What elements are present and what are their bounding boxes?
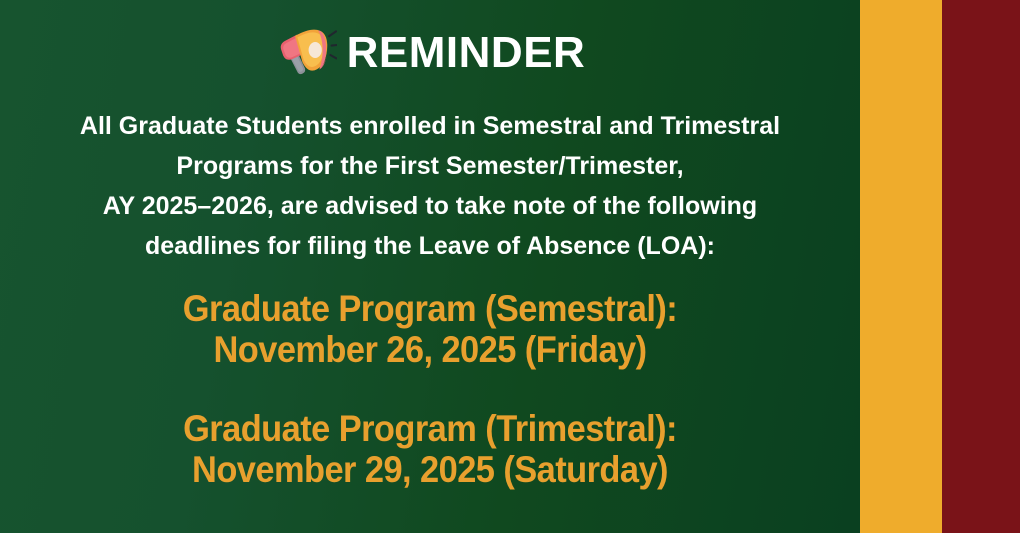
page-title: REMINDER bbox=[347, 31, 586, 75]
body-line: deadlines for filing the Leave of Absenc… bbox=[0, 226, 860, 266]
reminder-announcement-poster: REMINDER All Graduate Students enrolled … bbox=[0, 0, 1020, 533]
body-line: AY 2025–2026, are advised to take note o… bbox=[0, 186, 860, 226]
callout-date: November 26, 2025 (Friday) bbox=[30, 329, 830, 370]
deadline-callout-trimestral: Graduate Program (Trimestral): November … bbox=[30, 408, 830, 490]
announcement-body: All Graduate Students enrolled in Semest… bbox=[0, 106, 860, 266]
callout-heading: Graduate Program (Trimestral): bbox=[30, 408, 830, 449]
red-accent-band bbox=[942, 0, 1020, 533]
body-line: All Graduate Students enrolled in Semest… bbox=[0, 106, 860, 146]
callout-heading: Graduate Program (Semestral): bbox=[30, 288, 830, 329]
body-line: Programs for the First Semester/Trimeste… bbox=[0, 146, 860, 186]
orange-accent-band bbox=[860, 0, 942, 533]
header-row: REMINDER bbox=[0, 26, 860, 80]
deadline-callout-semestral: Graduate Program (Semestral): November 2… bbox=[30, 288, 830, 370]
megaphone-icon bbox=[275, 26, 337, 80]
callout-date: November 29, 2025 (Saturday) bbox=[30, 449, 830, 490]
